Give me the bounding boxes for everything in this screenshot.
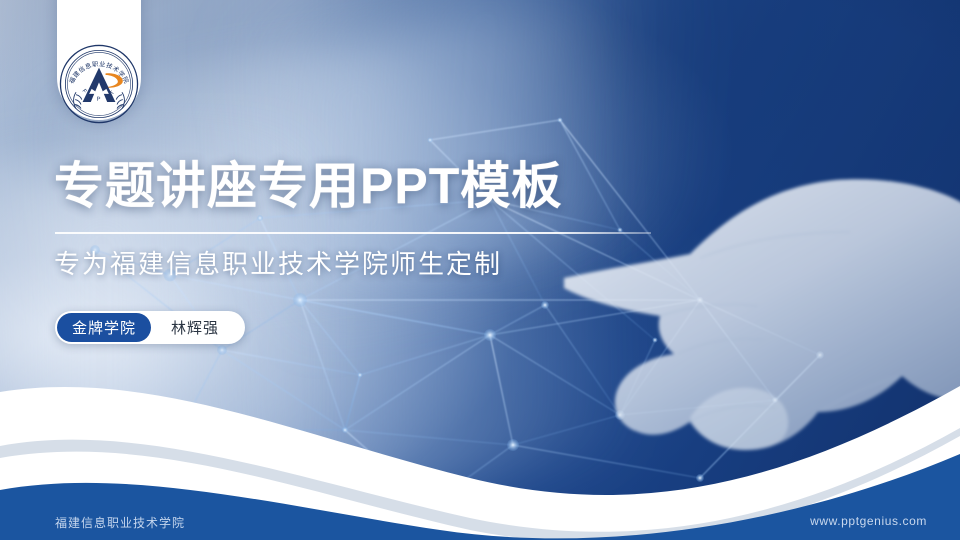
page-subtitle: 专为福建信息职业技术学院师生定制	[54, 244, 502, 281]
fjpit-emblem-icon: 福建信息职业技术学院 F J P I T	[58, 43, 140, 125]
title-divider	[55, 232, 651, 234]
presenter-name: 林辉强	[151, 317, 235, 338]
footer-institution: 福建信息职业技术学院	[55, 514, 185, 531]
footer-website[interactable]: www.pptgenius.com	[810, 514, 927, 528]
presenter-badge[interactable]: 金牌学院 林辉强	[55, 311, 245, 344]
badge-tag-label: 金牌学院	[57, 313, 151, 342]
page-title: 专题讲座专用PPT模板	[54, 160, 562, 213]
presentation-slide: 福建信息职业技术学院 F J P I T 专题讲座专用PPT模板 专为福建信息职…	[0, 0, 960, 540]
bottom-wave-shape	[0, 350, 960, 540]
